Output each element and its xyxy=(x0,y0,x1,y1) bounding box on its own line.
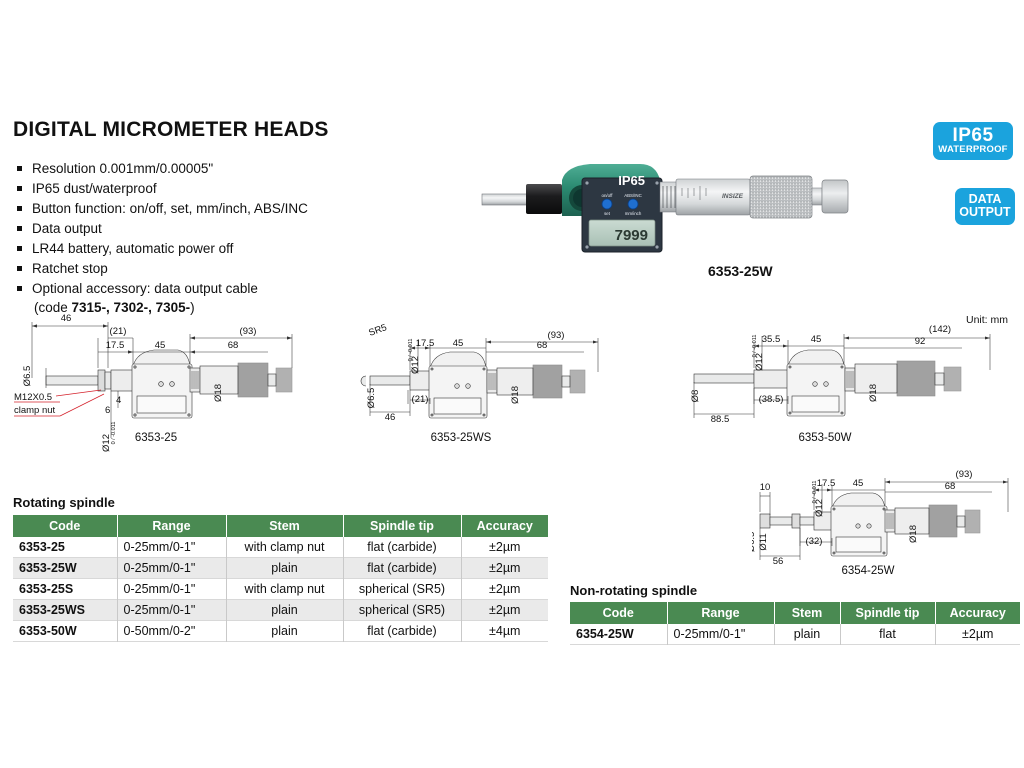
square-bullet-icon xyxy=(17,286,22,291)
list-item: Resolution 0.001mm/0.00005" xyxy=(16,160,396,179)
dim-d2: 45 xyxy=(811,334,822,345)
product-photo: IP65 on/off set ABS/INC mm/inch 7999 INS… xyxy=(470,150,870,255)
technical-drawing-6353-25WS: SR5 Ø12 0 / -0.011 17.5 17.5 45 (93) 68 … xyxy=(352,320,642,450)
dim-dia-spindle: Ø6.5 xyxy=(366,388,377,409)
dim-dia-spindle: Ø8 xyxy=(690,390,701,403)
column-header-code: Code xyxy=(13,515,117,537)
column-header-range: Range xyxy=(667,602,774,624)
cell-code: 6354-25W xyxy=(570,624,667,645)
cell-accuracy: ±2µm xyxy=(461,558,548,579)
table-row: 6353-25S 0-25mm/0-1" with clamp nut sphe… xyxy=(13,579,548,600)
drawing-label-6353-50W: 6353-50W xyxy=(775,432,875,444)
square-bullet-icon xyxy=(17,266,22,271)
column-header-stem: Stem xyxy=(774,602,840,624)
dim-dia-barrel: Ø18 xyxy=(213,384,224,402)
dim-d3: 68 xyxy=(537,340,548,351)
svg-text:mm/inch: mm/inch xyxy=(625,211,642,216)
dim-dia-spindle: Ø6.5 xyxy=(22,366,33,387)
dim-total: 46 xyxy=(61,313,72,324)
svg-text:IP65: IP65 xyxy=(618,173,645,188)
page-title: DIGITAL MICROMETER HEADS xyxy=(13,118,329,142)
dim-dia-barrel: Ø18 xyxy=(510,386,521,404)
dim-dia-stem-tol: 0 / -0.011 xyxy=(752,335,758,358)
dim-paren1: (38.5) xyxy=(759,394,784,405)
cell-accuracy: ±2µm xyxy=(935,624,1020,645)
product-model-label: 6353-25W xyxy=(708,263,773,279)
dim-dia-tip: Ø6.5 xyxy=(752,532,757,553)
badge-line1: DATA xyxy=(955,193,1015,206)
dim-paren2: (93) xyxy=(956,469,973,480)
badge-line1: IP65 xyxy=(933,126,1013,145)
status-badge-ip65: IP65 WATERPROOF xyxy=(933,122,1013,160)
dim-paren1: (32) xyxy=(806,536,823,547)
dim-total: 88.5 xyxy=(711,414,730,425)
feature-text: Ratchet stop xyxy=(32,261,108,276)
dim-small2: 6 xyxy=(105,405,110,416)
svg-text:set: set xyxy=(604,211,611,216)
dim-d1-vis: 17.5 xyxy=(416,338,435,349)
list-item: Ratchet stop xyxy=(16,260,396,279)
cell-code: 6353-25WS xyxy=(13,600,117,621)
cell-stem: with clamp nut xyxy=(226,579,343,600)
dim-small1: 4 xyxy=(116,395,121,406)
table-non-rotating-spindle: Code Range Stem Spindle tip Accuracy 635… xyxy=(570,602,1020,645)
cell-stem: plain xyxy=(226,558,343,579)
dim-dia-barrel: Ø18 xyxy=(908,525,919,543)
cell-spindle-tip: flat (carbide) xyxy=(343,537,461,558)
dim-d3: 68 xyxy=(945,481,956,492)
drawing-label-6353-25WS: 6353-25WS xyxy=(411,432,511,444)
table-header-row: Code Range Stem Spindle tip Accuracy xyxy=(570,602,1020,624)
table-row: 6353-50W 0-50mm/0-2" plain flat (carbide… xyxy=(13,621,548,642)
drawing-label-6353-25: 6353-25 xyxy=(116,432,196,444)
svg-text:ABS/INC: ABS/INC xyxy=(624,193,642,198)
cell-range: 0-25mm/0-1" xyxy=(117,558,226,579)
dim-paren1: (21) xyxy=(110,326,127,337)
svg-text:on/off: on/off xyxy=(602,193,614,198)
cell-stem: plain xyxy=(774,624,840,645)
cell-range: 0-50mm/0-2" xyxy=(117,621,226,642)
list-item: LR44 battery, automatic power off xyxy=(16,240,396,259)
cell-spindle-tip: flat (carbide) xyxy=(343,558,461,579)
drawing-label-6354-25W: 6354-25W xyxy=(818,565,918,577)
column-header-accuracy: Accuracy xyxy=(461,515,548,537)
column-header-stem: Stem xyxy=(226,515,343,537)
cell-accuracy: ±2µm xyxy=(461,579,548,600)
table-caption-rotating: Rotating spindle xyxy=(13,495,115,510)
cell-range: 0-25mm/0-1" xyxy=(117,579,226,600)
list-item: Button function: on/off, set, mm/inch, A… xyxy=(16,200,396,219)
cell-spindle-tip: flat xyxy=(840,624,935,645)
svg-text:7999: 7999 xyxy=(615,227,648,244)
cell-accuracy: ±4µm xyxy=(461,621,548,642)
cell-spindle-tip: flat (carbide) xyxy=(343,621,461,642)
column-header-code: Code xyxy=(570,602,667,624)
cell-code: 6353-25W xyxy=(13,558,117,579)
cell-range: 0-25mm/0-1" xyxy=(117,600,226,621)
dim-d1: 17.5 xyxy=(106,340,125,351)
square-bullet-icon xyxy=(17,226,22,231)
feature-text: IP65 dust/waterproof xyxy=(32,181,157,196)
dim-paren2: (93) xyxy=(240,326,257,337)
cell-code: 6353-25 xyxy=(13,537,117,558)
badge-line2: OUTPUT xyxy=(955,206,1015,219)
feature-list: Resolution 0.001mm/0.00005" IP65 dust/wa… xyxy=(16,160,396,319)
feature-text: LR44 battery, automatic power off xyxy=(32,241,233,256)
square-bullet-icon xyxy=(17,186,22,191)
dim-d2: 45 xyxy=(155,340,166,351)
dim-d2: 45 xyxy=(453,338,464,349)
table-header-row: Code Range Stem Spindle tip Accuracy xyxy=(13,515,548,537)
cell-range: 0-25mm/0-1" xyxy=(117,537,226,558)
cell-accuracy: ±2µm xyxy=(461,537,548,558)
status-badge-data-output: DATA OUTPUT xyxy=(955,188,1015,225)
column-header-range: Range xyxy=(117,515,226,537)
square-bullet-icon xyxy=(17,166,22,171)
list-item: Data output xyxy=(16,220,396,239)
dim-d1: 35.5 xyxy=(762,334,781,345)
technical-drawing-6353-50W: Ø8 Ø12 0 / -0.011 35.5 45 (142) 92 (38.5… xyxy=(690,318,1010,448)
cell-stem: plain xyxy=(226,600,343,621)
cell-code: 6353-25S xyxy=(13,579,117,600)
dim-total: 56 xyxy=(773,556,784,567)
svg-text:INSIZE: INSIZE xyxy=(722,193,744,200)
cell-code: 6353-50W xyxy=(13,621,117,642)
column-header-spindle-tip: Spindle tip xyxy=(840,602,935,624)
dim-clamp-note: clamp nut xyxy=(14,405,56,416)
column-header-spindle-tip: Spindle tip xyxy=(343,515,461,537)
dim-dia-flange: Ø11 xyxy=(758,533,769,550)
cell-accuracy: ±2µm xyxy=(461,600,548,621)
dim-tip: SR5 xyxy=(367,322,388,339)
dim-total: 46 xyxy=(385,412,396,423)
cell-spindle-tip: spherical (SR5) xyxy=(343,579,461,600)
cell-spindle-tip: spherical (SR5) xyxy=(343,600,461,621)
dim-tip-len: 10 xyxy=(760,482,771,493)
table-row: 6353-25W 0-25mm/0-1" plain flat (carbide… xyxy=(13,558,548,579)
dim-paren2: (142) xyxy=(929,324,951,335)
feature-text: Button function: on/off, set, mm/inch, A… xyxy=(32,201,308,216)
dim-thread: M12X0.5 xyxy=(14,392,52,403)
cell-stem: with clamp nut xyxy=(226,537,343,558)
table-caption-non-rotating: Non-rotating spindle xyxy=(570,583,697,598)
dim-dia-barrel: Ø18 xyxy=(868,384,879,402)
column-header-accuracy: Accuracy xyxy=(935,602,1020,624)
dim-d1: 17.5 xyxy=(817,478,836,489)
table-row: 6353-25 0-25mm/0-1" with clamp nut flat … xyxy=(13,537,548,558)
table-row: 6353-25WS 0-25mm/0-1" plain spherical (S… xyxy=(13,600,548,621)
dim-d2: 45 xyxy=(853,478,864,489)
list-item: IP65 dust/waterproof xyxy=(16,180,396,199)
feature-text: Optional accessory: data output cable xyxy=(32,281,258,296)
dim-paren2: (93) xyxy=(548,330,565,341)
badge-line2: WATERPROOF xyxy=(933,145,1013,155)
dim-dia-stem-tol: 0 / -0.011 xyxy=(408,339,414,362)
feature-text: Data output xyxy=(32,221,102,236)
square-bullet-icon xyxy=(17,206,22,211)
table-row: 6354-25W 0-25mm/0-1" plain flat ±2µm xyxy=(570,624,1020,645)
dim-d3: 68 xyxy=(228,340,239,351)
dim-paren1: (21) xyxy=(412,394,429,405)
table-rotating-spindle: Code Range Stem Spindle tip Accuracy 635… xyxy=(13,515,548,642)
feature-text: Resolution 0.001mm/0.00005" xyxy=(32,161,213,176)
cell-stem: plain xyxy=(226,621,343,642)
square-bullet-icon xyxy=(17,246,22,251)
cell-range: 0-25mm/0-1" xyxy=(667,624,774,645)
dim-d3: 92 xyxy=(915,336,926,347)
